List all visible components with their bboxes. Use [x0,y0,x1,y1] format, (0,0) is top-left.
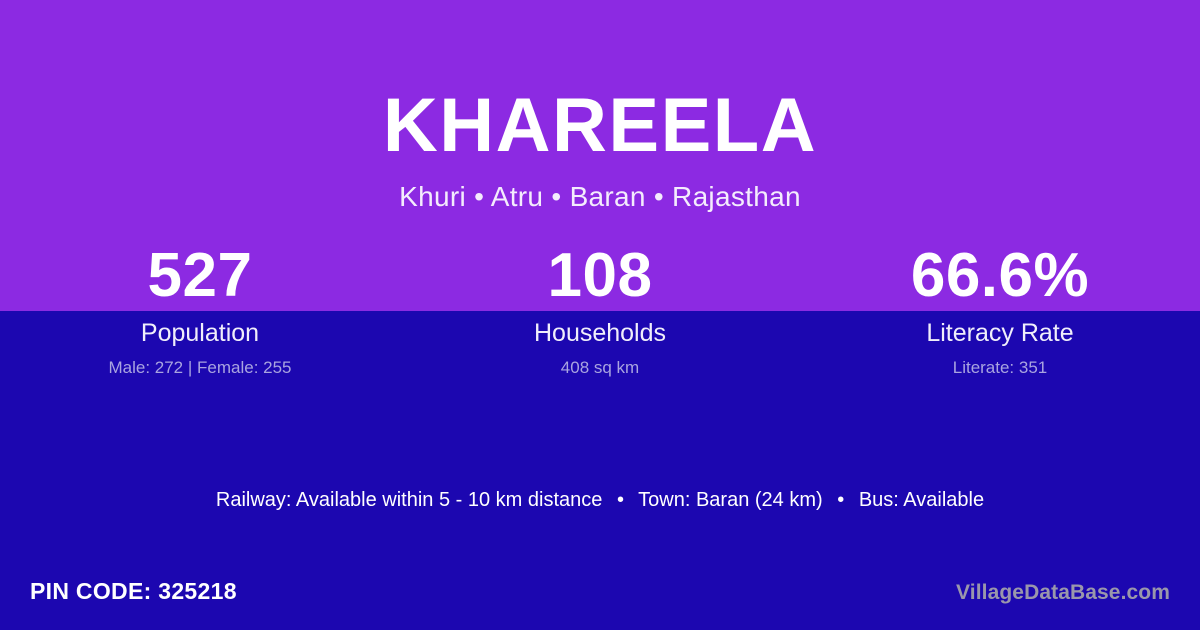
village-info-card: KHAREELA Khuri • Atru • Baran • Rajastha… [0,0,1200,630]
population-value: 527 [0,242,400,310]
literate-count: Literate: 351 [800,358,1200,378]
card-footer: PIN CODE: 325218 VillageDataBase.com [0,572,1200,630]
amenities-info-row: Railway: Available within 5 - 10 km dist… [0,487,1200,514]
bus-info: Bus: Available [859,489,984,511]
pin-code: PIN CODE: 325218 [30,577,237,605]
page-title: KHAREELA [0,0,1200,169]
population-label: Population [0,318,400,348]
stat-block-households: 108 Households 408 sq km [400,242,800,378]
literacy-rate-label: Literacy Rate [800,318,1200,348]
stats-row: 527 Population Male: 272 | Female: 255 1… [0,242,1200,378]
households-label: Households [400,318,800,348]
info-separator-1: • [608,487,633,514]
breadcrumb: Khuri • Atru • Baran • Rajasthan [0,169,1200,214]
info-separator-2: • [828,487,853,514]
stat-block-population: 527 Population Male: 272 | Female: 255 [0,242,400,378]
town-info: Town: Baran (24 km) [638,489,823,511]
population-breakdown: Male: 272 | Female: 255 [0,358,400,378]
railway-info: Railway: Available within 5 - 10 km dist… [216,489,602,511]
households-value: 108 [400,242,800,310]
site-watermark: VillageDataBase.com [956,580,1170,606]
area-value: 408 sq km [400,358,800,378]
literacy-rate-value: 66.6% [800,242,1200,310]
card-header: KHAREELA Khuri • Atru • Baran • Rajastha… [0,0,1200,214]
stat-block-literacy: 66.6% Literacy Rate Literate: 351 [800,242,1200,378]
